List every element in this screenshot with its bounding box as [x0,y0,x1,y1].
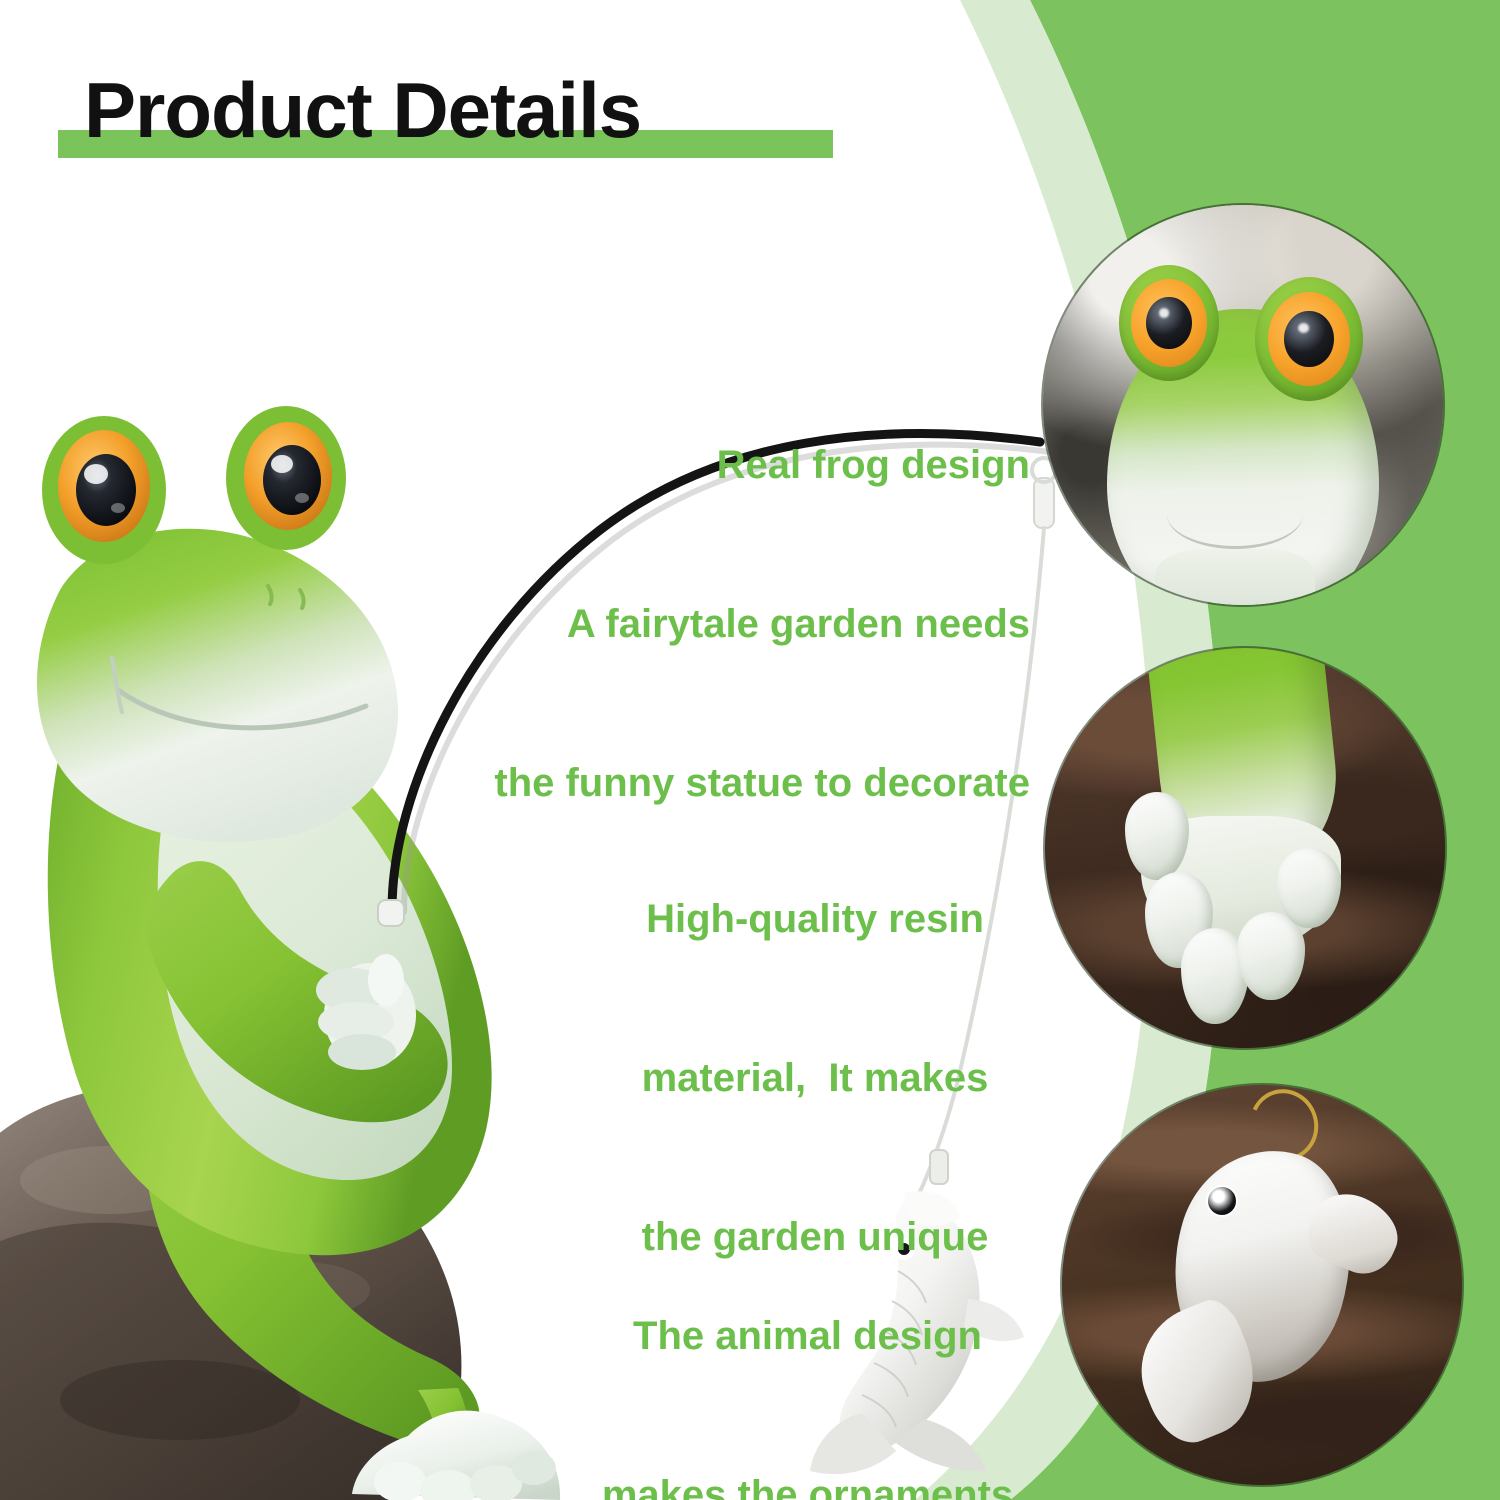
frog-face-neck [1155,549,1315,605]
frog-face-mouth [1167,507,1303,548]
detail-photo-frog-face [1043,205,1443,605]
feature-line: Real frog design [370,439,1030,492]
eye-glint [1159,308,1169,318]
product-details-page: Product Details [0,0,1500,1500]
pupil [1284,311,1333,368]
frog-face-eye-right [1255,277,1363,401]
iris [1131,279,1207,367]
feature-line: The animal design [580,1310,1035,1363]
feature-line: A fairytale garden needs [370,598,1030,651]
feature-line: makes the ornaments [580,1469,1035,1500]
feature-line: material, It makes [600,1052,1030,1105]
feature-line: High-quality resin [600,893,1030,946]
detail-photo-fish-ornament [1062,1085,1462,1485]
fish-ornament-eye [1206,1185,1238,1217]
pupil [1146,297,1192,350]
detail-photo-frog-foot [1045,648,1445,1048]
feature-text-animal-design: The animal design makes the ornaments mo… [580,1204,1035,1500]
frog-face-eye-left [1119,265,1219,381]
iris [1268,292,1350,386]
eye-glint [1298,323,1309,333]
